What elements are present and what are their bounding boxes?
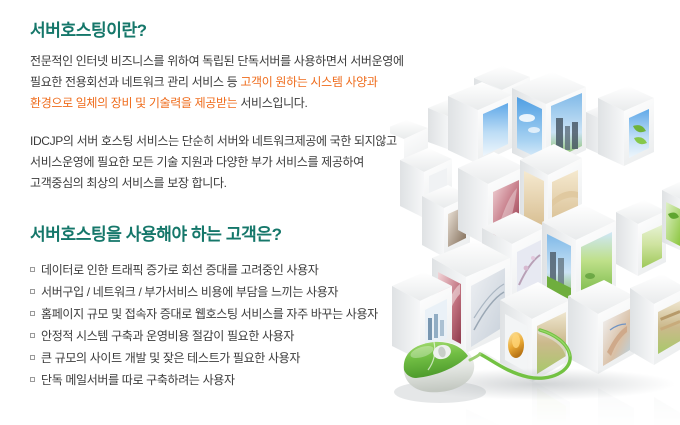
cube-wall-illustration (390, 0, 680, 425)
list-item: 홈페이지 규모 및 접속자 증대로 웹호스팅 서비스를 자주 바꾸는 사용자 (30, 303, 378, 325)
square-bullet-icon (30, 377, 35, 382)
list-item-label: 큰 규모의 사이트 개발 및 잦은 테스트가 필요한 사용자 (41, 351, 300, 365)
paragraph-line: 고객중심의 최상의 서비스를 보장 합니다. (30, 173, 397, 194)
list-item-label: 홈페이지 규모 및 접속자 증대로 웹호스팅 서비스를 자주 바꾸는 사용자 (41, 307, 378, 321)
list-item-label: 안정적 시스템 구축과 운영비용 절감이 필요한 사용자 (41, 329, 294, 343)
square-bullet-icon (30, 289, 35, 294)
list-item: 단독 메일서버를 따로 구축하려는 사용자 (30, 369, 378, 391)
customer-type-list: 데이터로 인한 트래픽 증가로 회선 증대를 고려중인 사용자 서버구입 / 네… (30, 259, 378, 391)
cube-photo-gold (500, 282, 570, 382)
list-item-label: 데이터로 인한 트래픽 증가로 회선 증대를 고려중인 사용자 (41, 263, 318, 277)
list-item: 큰 규모의 사이트 개발 및 잦은 테스트가 필요한 사용자 (30, 347, 378, 369)
highlight-text: 환경으로 일체의 장비 및 기술력을 제공받는 (30, 96, 237, 110)
section-2-heading: 서버호스팅을 사용해야 하는 고객은? (30, 225, 282, 245)
cube-photo-hand (568, 280, 634, 374)
list-item-label: 서버구입 / 네트워크 / 부가서비스 비용에 부담을 느끼는 사용자 (41, 285, 338, 299)
paragraph-line: IDCJP의 서버 호스팅 서비스는 단순히 서버와 네트워크제공에 국한 되지… (30, 131, 397, 152)
list-item: 안정적 시스템 구축과 운영비용 절감이 필요한 사용자 (30, 325, 378, 347)
paragraph-line: 전문적인 인터넷 비즈니스를 위하여 독립된 단독서버를 사용하면서 서버운영에 (30, 51, 404, 72)
square-bullet-icon (30, 311, 35, 316)
paragraph-line: 환경으로 일체의 장비 및 기술력을 제공받는 서비스입니다. (30, 93, 404, 114)
cube-stack (390, 66, 680, 382)
cube-photo-fence (630, 274, 680, 365)
cube-photo-field-right (616, 200, 666, 276)
section-1-heading: 서버호스팅이란? (30, 21, 147, 41)
list-item: 데이터로 인한 트래픽 증가로 회선 증대를 고려중인 사용자 (30, 259, 378, 281)
section-1-paragraph-1: 전문적인 인터넷 비즈니스를 위하여 독립된 단독서버를 사용하면서 서버운영에… (30, 51, 404, 114)
paragraph-line: 서비스운영에 필요한 모든 기술 지원과 다양한 부가 서비스를 제공하여 (30, 152, 397, 173)
cube-photo-leaf-right (662, 179, 680, 252)
highlight-text: 고객이 원하는 시스템 사양과 (240, 75, 377, 89)
hosting-info-page: 서버호스팅이란? 전문적인 인터넷 비즈니스를 위하여 독립된 단독서버를 사용… (0, 0, 680, 425)
paragraph-line: 필요한 전용회선과 네트워크 관리 서비스 등 고객이 원하는 시스템 사양과 (30, 72, 404, 93)
cube-photo-leaf-top (598, 86, 654, 166)
paragraph-text: 필요한 전용회선과 네트워크 관리 서비스 등 (30, 75, 240, 89)
square-bullet-icon (30, 267, 35, 272)
paragraph-text: 서비스입니다. (237, 96, 307, 110)
square-bullet-icon (30, 355, 35, 360)
list-item: 서버구입 / 네트워크 / 부가서비스 비용에 부담을 느끼는 사용자 (30, 281, 378, 303)
square-bullet-icon (30, 333, 35, 338)
cube-photo-sky-1 (448, 82, 512, 164)
list-item-label: 단독 메일서버를 따로 구축하려는 사용자 (41, 373, 235, 387)
section-1-paragraph-2: IDCJP의 서버 호스팅 서비스는 단순히 서버와 네트워크제공에 국한 되지… (30, 131, 397, 194)
